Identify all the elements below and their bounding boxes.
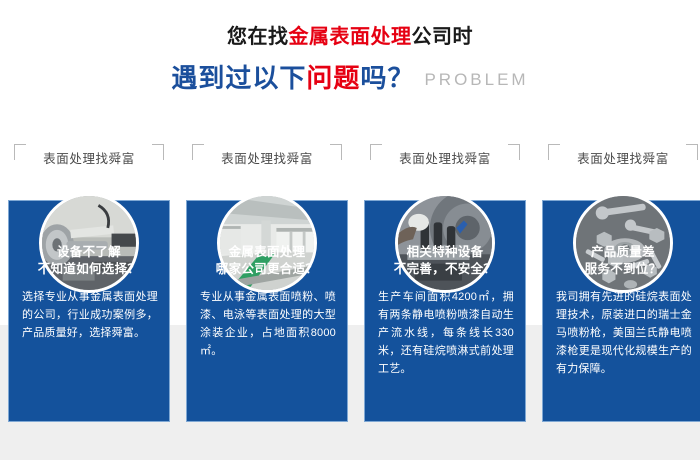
card-header-label: 表面处理找舜富 xyxy=(192,144,342,174)
card-title: 金属表面处理 哪家公司更合适？ xyxy=(192,244,342,278)
card-title-line-1: 设备不了解 xyxy=(14,244,164,261)
headline-line-1: 您在找金属表面处理公司时 xyxy=(0,24,700,50)
problem-card[interactable]: 表面处理找舜富 xyxy=(542,140,700,430)
metal-fasteners-photo xyxy=(573,193,673,293)
card-body-text: 生产车间面积4200㎡，拥有两条静电喷粉喷漆自动生产流水线，每条线长330米，还… xyxy=(378,288,514,378)
card-title-line-1: 金属表面处理 xyxy=(192,244,342,261)
card-title-line-1: 产品质量差 xyxy=(548,244,698,261)
headline-l2-highlight: 问题 xyxy=(306,63,360,93)
card-title-line-1: 相关特种设备 xyxy=(370,244,520,261)
card-header: 表面处理找舜富 xyxy=(14,144,164,174)
card-header: 表面处理找舜富 xyxy=(192,144,342,174)
headline-l2-prefix: 遇到过以下 xyxy=(171,63,306,93)
card-title: 设备不了解 不知道如何选择？ xyxy=(14,244,164,278)
problem-card[interactable]: 表面处理找舜富 xyxy=(8,140,170,430)
card-body-text: 专业从事金属表面喷粉、喷漆、电泳等表面处理的大型涂装企业，占地面积8000㎡。 xyxy=(200,288,336,360)
card-header-label: 表面处理找舜富 xyxy=(370,144,520,174)
problem-card-list: 表面处理找舜富 xyxy=(0,140,700,430)
card-body-text: 我司拥有先进的硅烷表面处理技术，原装进口的瑞士金马喷粉枪，美国兰氏静电喷漆枪更是… xyxy=(556,288,692,378)
headline-l1-suffix: 公司时 xyxy=(412,26,474,48)
lathe-machining-photo xyxy=(39,193,139,293)
headline-line-2: 遇到过以下问题吗？PROBLEM xyxy=(0,62,700,96)
problem-card[interactable]: 表面处理找舜富 xyxy=(364,140,526,430)
problem-card[interactable]: 表面处理找舜富 xyxy=(186,140,348,430)
card-header: 表面处理找舜富 xyxy=(548,144,698,174)
card-title-line-2: 不知道如何选择？ xyxy=(14,261,164,278)
page-headline: 您在找金属表面处理公司时 遇到过以下问题吗？PROBLEM xyxy=(0,0,700,96)
headline-l1-highlight: 金属表面处理 xyxy=(289,26,412,48)
card-title-line-2: 哪家公司更合适？ xyxy=(192,261,342,278)
coating-equipment-photo xyxy=(395,193,495,293)
page-root: 您在找金属表面处理公司时 遇到过以下问题吗？PROBLEM 表面处理找舜富 xyxy=(0,0,700,460)
card-header: 表面处理找舜富 xyxy=(370,144,520,174)
headline-english-label: PROBLEM xyxy=(424,70,528,89)
production-workshop-photo xyxy=(217,193,317,293)
headline-l1-prefix: 您在找 xyxy=(227,26,289,48)
card-header-label: 表面处理找舜富 xyxy=(14,144,164,174)
card-title-line-2: 服务不到位？ xyxy=(548,261,698,278)
card-title: 产品质量差 服务不到位？ xyxy=(548,244,698,278)
card-title-line-2: 不完善，不安全？ xyxy=(370,261,520,278)
card-title: 相关特种设备 不完善，不安全？ xyxy=(370,244,520,278)
card-header-label: 表面处理找舜富 xyxy=(548,144,698,174)
headline-l2-suffix: 吗？ xyxy=(360,63,414,93)
card-body-text: 选择专业从事金属表面处理的公司，行业成功案例多，产品质量好，选择舜富。 xyxy=(22,288,158,342)
